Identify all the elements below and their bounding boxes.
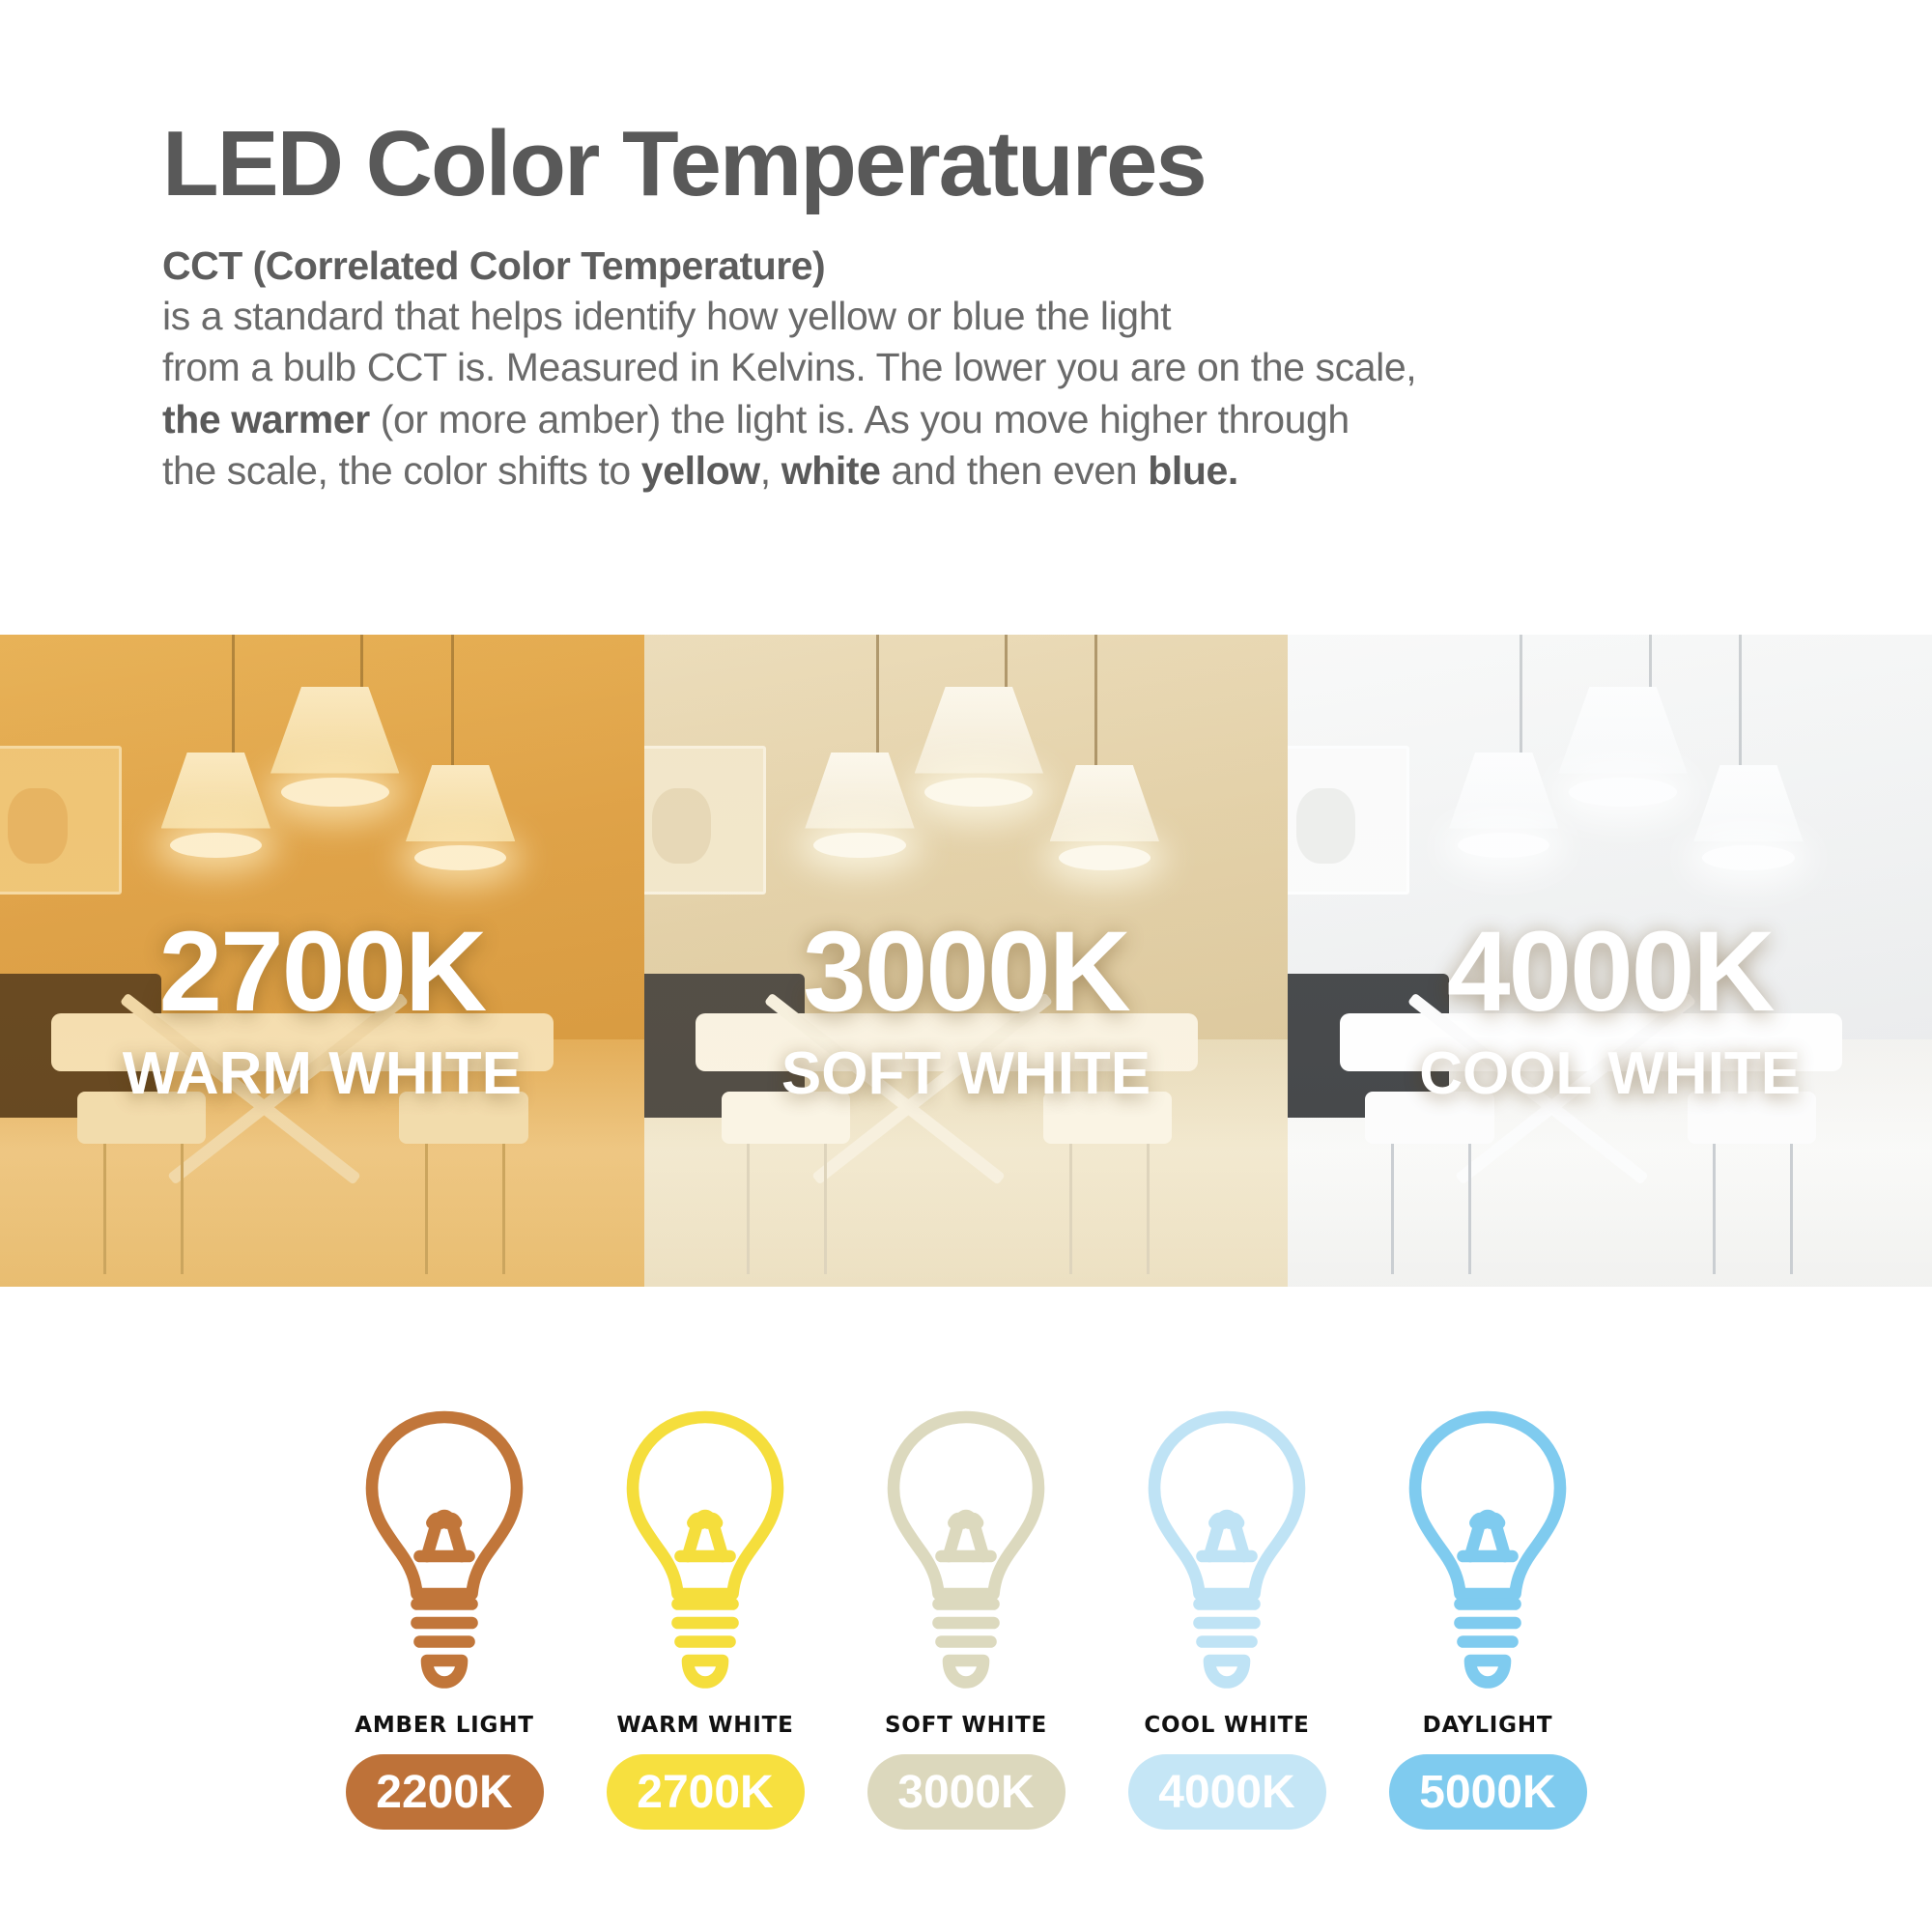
description-line-4-sep2: and then even xyxy=(881,448,1149,493)
scale-item-2700k[interactable]: WARM WHITE2700K xyxy=(575,1406,836,1830)
description-line-1: is a standard that helps identify how ye… xyxy=(162,294,1171,338)
page-title: LED Color Temperatures xyxy=(162,118,1932,211)
photo-comparison-strip: 2700K WARM WHITE 3000K xyxy=(0,635,1932,1287)
pendant-lamp xyxy=(805,753,914,850)
scale-item-3000k[interactable]: SOFT WHITE3000K xyxy=(836,1406,1096,1830)
emphasis-white: white xyxy=(781,448,881,493)
wall-picture-frame xyxy=(1288,746,1409,895)
photo-panel-3000k: 3000K SOFT WHITE xyxy=(644,635,1289,1287)
lamp-glow xyxy=(281,778,389,807)
light-bulb-icon xyxy=(1137,1406,1317,1695)
panel-kelvin-value: 4000K xyxy=(1288,915,1932,1029)
scale-item-kelvin-pill[interactable]: 3000K xyxy=(867,1754,1065,1830)
panel-kelvin-value: 3000K xyxy=(644,915,1289,1029)
scale-item-kelvin-pill[interactable]: 2700K xyxy=(607,1754,805,1830)
light-bulb-icon xyxy=(876,1406,1056,1695)
panel-caption: 3000K SOFT WHITE xyxy=(644,915,1289,1104)
emphasis-blue: blue. xyxy=(1148,448,1238,493)
scale-item-2200k[interactable]: AMBER LIGHT2200K xyxy=(314,1406,575,1830)
pendant-lamp xyxy=(1050,765,1159,863)
subheading: CCT (Correlated Color Temperature) xyxy=(162,243,1932,289)
description-line-4-sep1: , xyxy=(760,448,781,493)
lamp-glow xyxy=(1569,778,1677,807)
panel-kelvin-name: SOFT WHITE xyxy=(644,1044,1289,1104)
lamp-glow xyxy=(1702,845,1794,870)
photo-panel-2700k: 2700K WARM WHITE xyxy=(0,635,644,1287)
chair-leg xyxy=(425,1144,428,1274)
chair-leg xyxy=(502,1144,505,1274)
chair-leg xyxy=(747,1144,750,1274)
pendant-lamp xyxy=(1558,687,1687,798)
scale-item-label: DAYLIGHT xyxy=(1423,1713,1553,1738)
header-section: LED Color Temperatures CCT (Correlated C… xyxy=(0,0,1932,497)
pendant-lamp xyxy=(1449,753,1558,850)
panel-caption: 4000K COOL WHITE xyxy=(1288,915,1932,1104)
chair-leg xyxy=(1468,1144,1471,1274)
scale-item-kelvin-pill[interactable]: 5000K xyxy=(1389,1754,1587,1830)
scale-item-4000k[interactable]: COOL WHITE4000K xyxy=(1096,1406,1357,1830)
panel-kelvin-name: COOL WHITE xyxy=(1288,1044,1932,1104)
panel-kelvin-name: WARM WHITE xyxy=(0,1044,644,1104)
pendant-lamp xyxy=(1693,765,1803,863)
chair-leg xyxy=(1790,1144,1793,1274)
infographic-page: LED Color Temperatures CCT (Correlated C… xyxy=(0,0,1932,1932)
chair-leg xyxy=(103,1144,106,1274)
chair-leg xyxy=(1713,1144,1716,1274)
scale-item-label: COOL WHITE xyxy=(1144,1713,1309,1738)
description-line-4-pre: the scale, the color shifts to xyxy=(162,448,641,493)
lamp-glow xyxy=(924,778,1033,807)
scale-item-5000k[interactable]: DAYLIGHT5000K xyxy=(1357,1406,1618,1830)
light-bulb-icon xyxy=(615,1406,795,1695)
scale-item-kelvin-pill[interactable]: 4000K xyxy=(1128,1754,1326,1830)
scale-item-label: AMBER LIGHT xyxy=(355,1713,533,1738)
photo-panel-4000k: 4000K COOL WHITE xyxy=(1288,635,1932,1287)
panel-kelvin-value: 2700K xyxy=(0,915,644,1029)
lamp-glow xyxy=(813,833,905,858)
color-temperature-scale: AMBER LIGHT2200K WARM WHITE2700K xyxy=(0,1406,1932,1830)
light-bulb-icon xyxy=(355,1406,534,1695)
emphasis-warmer: the warmer xyxy=(162,397,370,441)
scale-item-kelvin-pill[interactable]: 2200K xyxy=(346,1754,544,1830)
lamp-glow xyxy=(1458,833,1549,858)
scale-item-label: WARM WHITE xyxy=(616,1713,793,1738)
chair-leg xyxy=(1069,1144,1072,1274)
emphasis-yellow: yellow xyxy=(641,448,760,493)
wall-picture-frame xyxy=(0,746,122,895)
pendant-lamp xyxy=(406,765,515,863)
chair-leg xyxy=(1391,1144,1394,1274)
description-line-2: from a bulb CCT is. Measured in Kelvins.… xyxy=(162,345,1416,389)
scale-item-label: SOFT WHITE xyxy=(885,1713,1047,1738)
lamp-glow xyxy=(170,833,262,858)
description-line-3: (or more amber) the light is. As you mov… xyxy=(370,397,1350,441)
wall-picture-frame xyxy=(644,746,766,895)
pendant-lamp xyxy=(161,753,270,850)
pendant-lamp xyxy=(270,687,399,798)
panel-caption: 2700K WARM WHITE xyxy=(0,915,644,1104)
chair-leg xyxy=(181,1144,184,1274)
pendant-lamp xyxy=(915,687,1043,798)
light-bulb-icon xyxy=(1398,1406,1577,1695)
description-paragraph: is a standard that helps identify how ye… xyxy=(162,291,1932,497)
chair-leg xyxy=(824,1144,827,1274)
chair-leg xyxy=(1147,1144,1150,1274)
